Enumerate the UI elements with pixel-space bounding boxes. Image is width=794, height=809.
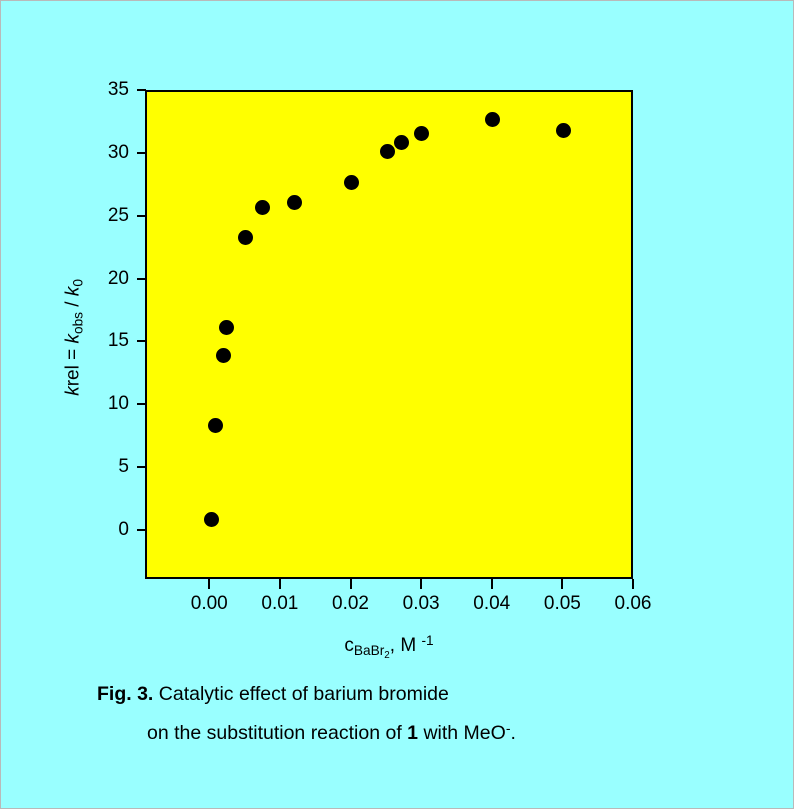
- x-tick-label: 0.00: [174, 593, 244, 615]
- plot-area: [145, 90, 633, 579]
- x-tick-mark: [208, 579, 210, 589]
- y-axis-title-equals: =: [63, 344, 84, 366]
- x-tick-mark: [632, 579, 634, 589]
- caption-figure-label: Fig. 3.: [97, 683, 153, 705]
- y-axis-title-slash: /: [63, 296, 84, 312]
- y-axis-title-k-zero: k: [63, 287, 84, 297]
- caption-line-2: on the substitution reaction of 1 with M…: [97, 711, 717, 750]
- y-axis-title-zero: 0: [70, 279, 85, 287]
- data-point: [219, 320, 234, 335]
- y-axis-title: krel = kobs / k0: [63, 237, 86, 437]
- data-point: [216, 348, 231, 363]
- data-point: [208, 418, 223, 433]
- x-tick-label: 0.03: [386, 593, 456, 615]
- y-axis-title-obs: obs: [70, 312, 85, 334]
- caption-line-2-suffix-b: .: [511, 722, 516, 744]
- data-point: [380, 144, 395, 159]
- x-axis-title-c: c: [344, 635, 354, 656]
- y-tick-label: 0: [95, 520, 129, 539]
- data-point: [485, 112, 500, 127]
- x-axis-title-babr: BaBr2: [354, 643, 390, 658]
- y-axis-title-k: k: [63, 386, 84, 396]
- data-point: [414, 126, 429, 141]
- x-tick-mark: [350, 579, 352, 589]
- x-tick-label: 0.01: [245, 593, 315, 615]
- y-axis-title-k-obs: k: [63, 334, 84, 344]
- data-point: [204, 512, 219, 527]
- caption-line-1-text: Catalytic effect of barium bromide: [153, 683, 449, 705]
- data-point: [238, 230, 253, 245]
- caption-line-2-prefix: on the substitution reaction of: [147, 722, 407, 744]
- y-tick-label: 30: [95, 143, 129, 162]
- data-point: [255, 200, 270, 215]
- figure-caption: Fig. 3. Catalytic effect of barium bromi…: [97, 677, 717, 750]
- x-axis-title-exponent: -1: [421, 633, 433, 648]
- data-point: [394, 135, 409, 150]
- caption-line-2-suffix-a: with MeO: [418, 722, 506, 744]
- x-axis-title-unit: , M: [390, 635, 422, 656]
- x-tick-label: 0.06: [598, 593, 668, 615]
- caption-compound-number: 1: [407, 722, 418, 744]
- data-point: [556, 123, 571, 138]
- x-tick-label: 0.02: [316, 593, 386, 615]
- x-tick-mark: [491, 579, 493, 589]
- y-tick-label: 5: [95, 457, 129, 476]
- x-axis-title: cBaBr2, M -1: [244, 633, 534, 661]
- figure-container: 05101520253035 0.000.010.020.030.040.050…: [0, 0, 794, 809]
- x-tick-mark: [561, 579, 563, 589]
- y-tick-label: 35: [95, 80, 129, 99]
- x-tick-label: 0.04: [457, 593, 527, 615]
- y-tick-label: 10: [95, 394, 129, 413]
- y-tick-label: 25: [95, 206, 129, 225]
- data-point: [287, 195, 302, 210]
- x-tick-mark: [420, 579, 422, 589]
- caption-line-1: Fig. 3. Catalytic effect of barium bromi…: [97, 677, 717, 711]
- x-tick-mark: [279, 579, 281, 589]
- data-points-layer: [147, 92, 631, 577]
- y-axis-title-rel: rel: [63, 365, 84, 386]
- y-tick-label: 20: [95, 269, 129, 288]
- y-tick-label: 15: [95, 331, 129, 350]
- x-tick-label: 0.05: [527, 593, 597, 615]
- data-point: [344, 175, 359, 190]
